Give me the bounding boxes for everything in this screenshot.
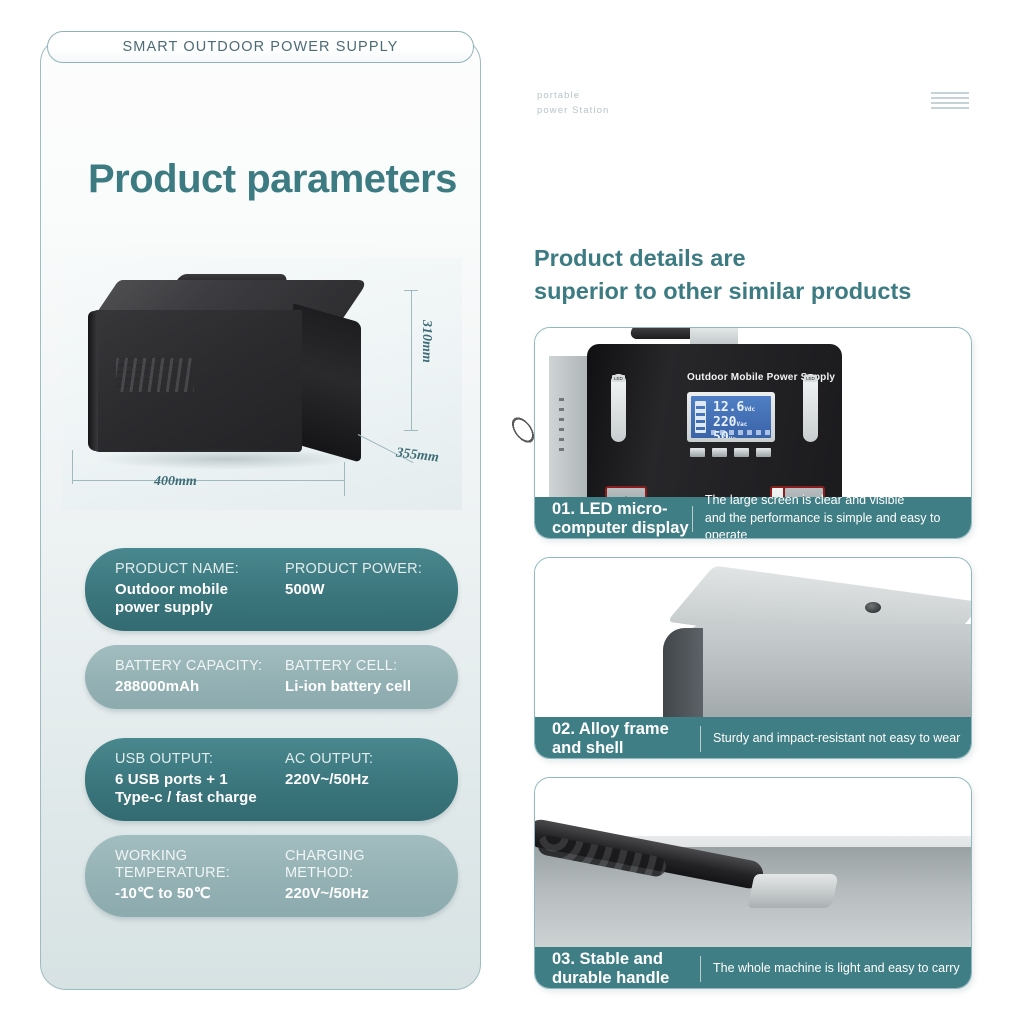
- lcd-row-dc: 12.6Vdc: [713, 400, 755, 415]
- card-02-photo: 02. Alloy frame and shell Sturdy and imp…: [535, 558, 971, 759]
- dim-width-cap-left: [72, 450, 73, 484]
- card-01-description: The large screen is clear and visible an…: [693, 492, 971, 539]
- led-strip-right: [803, 374, 818, 442]
- card-03-description: The whole machine is light and easy to c…: [701, 960, 960, 978]
- spec-pill-battery: BATTERY CAPACITY: 288000mAh BATTERY CELL…: [85, 645, 458, 709]
- detail-card-01: Outdoor Mobile Power Supply LED LED 12.6…: [534, 327, 972, 539]
- spec-label: BATTERY CELL:: [285, 658, 411, 675]
- spec-value: 288000mAh: [115, 678, 285, 696]
- lcd-ac-value: 220: [713, 415, 736, 430]
- spec-pill-product-name: PRODUCT NAME: Outdoor mobile power suppl…: [85, 548, 458, 631]
- led-label-left: LED: [612, 375, 625, 382]
- spec-value: Li-ion battery cell: [285, 678, 411, 696]
- dim-height-cap-top: [404, 290, 418, 291]
- dim-width-line: [72, 480, 344, 481]
- device-sidewall: [549, 356, 589, 520]
- side-vent-icon: [559, 398, 564, 454]
- left-panel-header-label: SMART OUTDOOR POWER SUPPLY: [123, 39, 399, 55]
- brand-wordmark: portable power Station: [537, 89, 609, 118]
- control-button-2[interactable]: [712, 448, 727, 457]
- spec-label: PRODUCT POWER:: [285, 561, 422, 578]
- spec-value: -10℃ to 50℃: [115, 885, 285, 903]
- battery-level-icon: [695, 401, 706, 433]
- page-title: Product parameters: [88, 157, 457, 202]
- spec-label: AC OUTPUT:: [285, 751, 373, 768]
- lcd-dc-unit: Vdc: [744, 406, 755, 413]
- spec-pill-working: WORKING TEMPERATURE: -10℃ to 50℃ CHARGIN…: [85, 835, 458, 917]
- spec-value: Outdoor mobile power supply: [115, 581, 285, 618]
- dim-height-line: [411, 290, 412, 430]
- lcd-screen: 12.6Vdc 220Vac 50Hz: [691, 396, 771, 438]
- spec-label: CHARGING METHOD:: [285, 848, 369, 882]
- control-button-3[interactable]: [734, 448, 749, 457]
- left-panel-header-tab: SMART OUTDOOR POWER SUPPLY: [47, 31, 474, 63]
- dim-width-cap-right: [344, 462, 345, 496]
- dim-height-cap-bottom: [404, 430, 418, 431]
- card-02-description: Sturdy and impact-resistant not easy to …: [701, 730, 960, 748]
- product-box-illustration: [90, 280, 380, 480]
- lcd-hz-unit: Hz: [729, 436, 736, 438]
- spec-value: 6 USB ports + 1 Type-c / fast charge: [115, 771, 285, 808]
- spec-value: 220V~/50Hz: [285, 885, 369, 903]
- spec-label: WORKING TEMPERATURE:: [115, 848, 285, 882]
- box-left-edge: [88, 311, 98, 451]
- lcd-display-frame: 12.6Vdc 220Vac 50Hz: [687, 392, 775, 442]
- brand-line-2: power Station: [537, 104, 609, 119]
- handle-mount-bracket: [747, 874, 838, 908]
- brand-pattern-icon: [931, 89, 969, 109]
- spec-value: 500W: [285, 581, 422, 599]
- spec-value: 220V~/50Hz: [285, 771, 373, 789]
- card-02-caption: 02. Alloy frame and shell Sturdy and imp…: [535, 717, 971, 759]
- dim-height-label: 310mm: [418, 320, 434, 363]
- product-marketing-page: SMART OUTDOOR POWER SUPPLY Product param…: [0, 0, 1024, 1024]
- lcd-status-bar: [711, 430, 771, 435]
- spec-pill-output: USB OUTPUT: 6 USB ports + 1 Type-c / fas…: [85, 738, 458, 821]
- vent-grill-icon: [116, 358, 194, 392]
- screw-icon: [865, 602, 881, 613]
- card-01-photo: Outdoor Mobile Power Supply LED LED 12.6…: [535, 328, 971, 539]
- card-03-caption: 03. Stable and durable handle The whole …: [535, 947, 971, 989]
- lcd-dc-value: 12.6: [713, 400, 744, 415]
- lcd-ac-unit: Vac: [736, 421, 747, 428]
- brand-line-1: portable: [537, 89, 609, 104]
- control-button-1[interactable]: [690, 448, 705, 457]
- led-strip-left: [611, 374, 626, 442]
- detail-card-03: 03. Stable and durable handle The whole …: [534, 777, 972, 989]
- spec-label: BATTERY CAPACITY:: [115, 658, 285, 675]
- detail-card-02: 02. Alloy frame and shell Sturdy and imp…: [534, 557, 972, 759]
- control-button-row[interactable]: [690, 448, 771, 457]
- card-02-title: 02. Alloy frame and shell: [535, 720, 700, 757]
- spec-label: USB OUTPUT:: [115, 751, 285, 768]
- dim-width-label: 400mm: [154, 474, 197, 490]
- control-button-4[interactable]: [756, 448, 771, 457]
- card-03-photo: 03. Stable and durable handle The whole …: [535, 778, 971, 989]
- card-03-title: 03. Stable and durable handle: [535, 950, 700, 987]
- card-01-title: 01. LED micro- computer display: [535, 500, 692, 537]
- spec-label: PRODUCT NAME:: [115, 561, 285, 578]
- box-front-face: [90, 310, 302, 452]
- right-section-title: Product details are superior to other si…: [534, 242, 911, 309]
- box-side-face: [293, 303, 361, 462]
- led-label-right: LED: [804, 375, 817, 382]
- product-hero-image: 310mm 355mm 400mm: [62, 258, 462, 510]
- card-01-caption: 01. LED micro- computer display The larg…: [535, 497, 971, 539]
- product-shadow: [96, 448, 358, 470]
